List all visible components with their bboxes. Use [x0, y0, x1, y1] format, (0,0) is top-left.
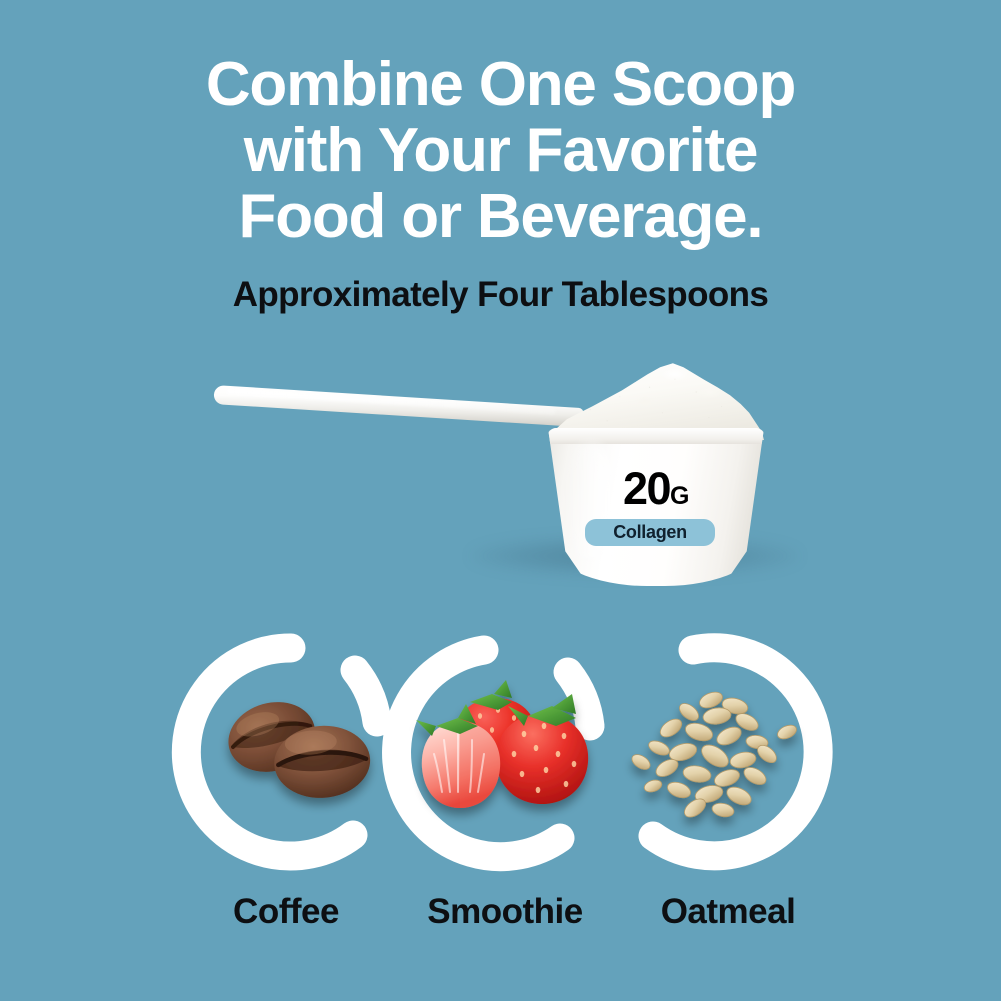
pairings-rings — [0, 628, 1001, 878]
grams-unit: G — [670, 482, 689, 510]
scoop-cup-rim — [548, 428, 764, 444]
subheadline: Approximately Four Tablespoons — [0, 275, 1001, 315]
pairing-labels: Coffee Smoothie Oatmeal — [0, 891, 1001, 939]
rolled-oats-icon — [629, 689, 798, 821]
grams-amount: 20 — [623, 463, 670, 514]
page-title: Combine One Scoop with Your Favorite Foo… — [0, 52, 1001, 250]
product-infographic: Combine One Scoop with Your Favorite Foo… — [0, 0, 1001, 1001]
headline-line-1: Combine One Scoop — [90, 52, 911, 118]
pairing-label-coffee: Coffee — [166, 891, 406, 933]
scoop-illustration — [0, 340, 1001, 610]
headline-line-2: with Your Favorite — [90, 118, 911, 184]
pairing-label-smoothie: Smoothie — [385, 891, 625, 933]
pairing-label-oatmeal: Oatmeal — [608, 891, 848, 933]
grams-badge: 20G — [548, 466, 764, 511]
collagen-pill-badge: Collagen — [585, 519, 715, 546]
coffee-beans-icon — [220, 692, 372, 801]
headline-line-3: Food or Beverage. — [90, 184, 911, 250]
strawberries-icon — [416, 680, 588, 808]
